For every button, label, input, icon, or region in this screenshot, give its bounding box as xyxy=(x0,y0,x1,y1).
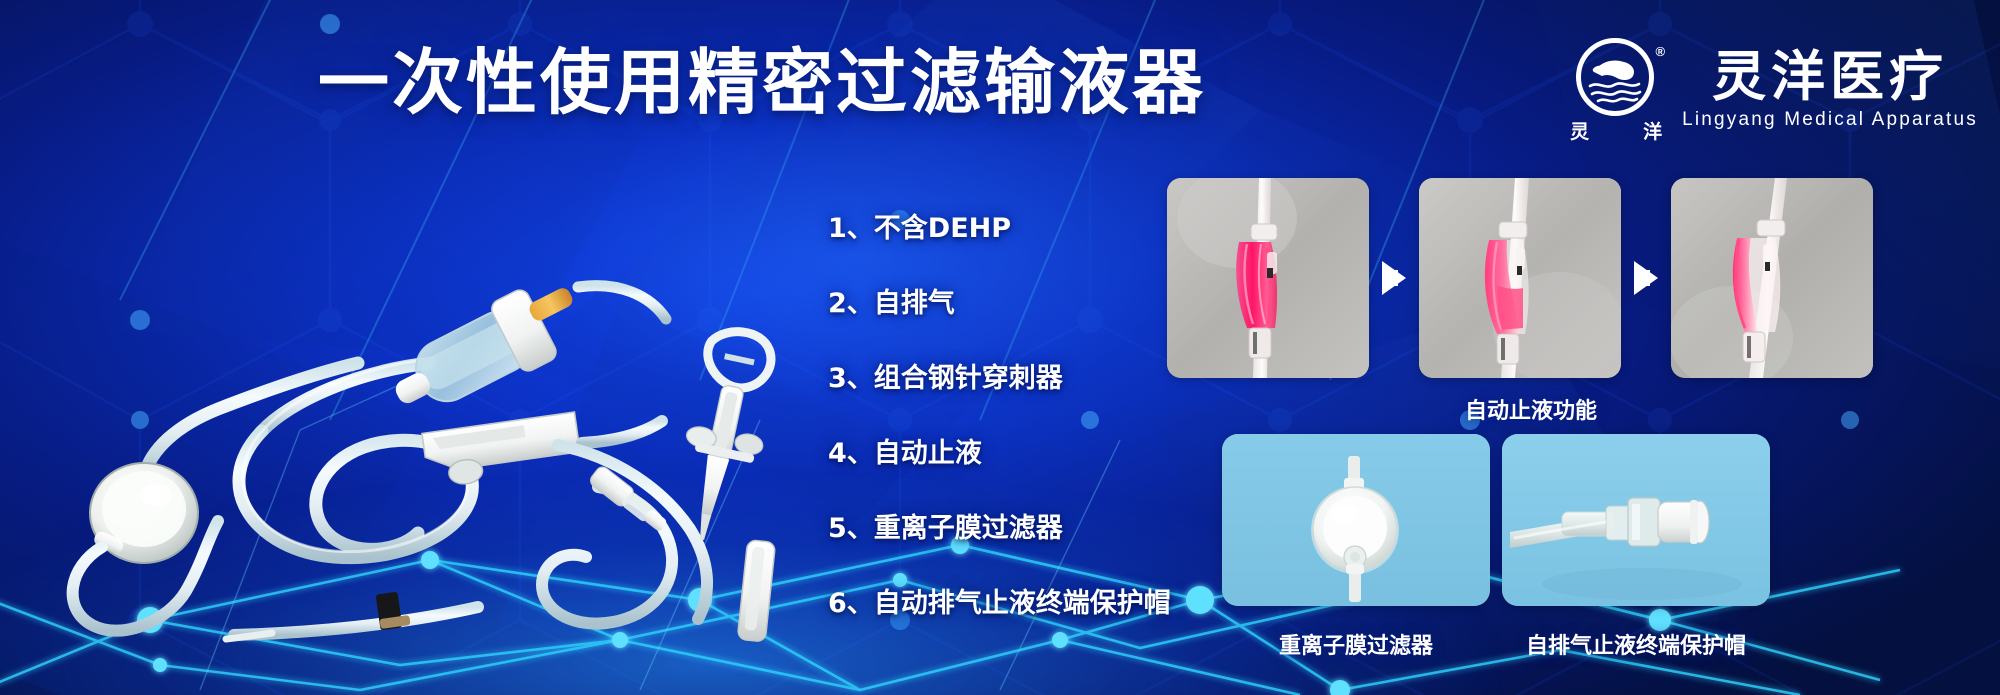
thumb-auto-stop-step-3[interactable] xyxy=(1671,178,1873,378)
feature-item-2: 2、自排气 xyxy=(828,290,1171,317)
caption-terminal-protector-cap: 自排气止液终端保护帽 xyxy=(1502,628,1770,660)
auto-stop-step-3-photo xyxy=(1671,178,1873,378)
thumb-terminal-protector-cap[interactable] xyxy=(1502,434,1770,606)
label-tag xyxy=(376,592,411,631)
thumb-auto-stop-step-2[interactable] xyxy=(1419,178,1621,378)
arrow-right-icon xyxy=(1382,261,1406,295)
brand-logo: ® 灵 洋 灵洋医疗 Lingyang Medical Apparatus xyxy=(1568,38,1978,142)
drip-chamber-part xyxy=(380,269,594,429)
infusion-set-illustration xyxy=(58,195,798,655)
logo-wave-bird-icon xyxy=(1576,38,1654,116)
page-title: 一次性使用精密过滤输液器 xyxy=(318,47,1206,118)
logo-mark-icon: ® 灵 洋 xyxy=(1568,38,1664,142)
auto-stop-sequence xyxy=(1167,178,1873,378)
component-gallery xyxy=(1222,434,1770,606)
brand-name-en: Lingyang Medical Apparatus xyxy=(1682,109,1978,131)
feature-item-3: 3、组合钢针穿刺器 xyxy=(828,365,1171,392)
arrow-right-icon xyxy=(1634,261,1658,295)
logo-mark-chars: 灵 洋 xyxy=(1570,123,1662,142)
protector-cap-part xyxy=(737,540,775,642)
caption-auto-stop-function: 自动止液功能 xyxy=(1465,393,1597,425)
feature-item-5: 5、重离子膜过滤器 xyxy=(828,515,1171,542)
brand-name-cn: 灵洋医疗 xyxy=(1712,49,1948,104)
feature-item-1: 1、不含DEHP xyxy=(828,215,1171,242)
caption-heavy-ion-filter: 重离子膜过滤器 xyxy=(1222,628,1490,660)
heavy-ion-filter-photo xyxy=(1222,434,1490,606)
product-photo-infusion-set xyxy=(58,195,798,655)
registered-mark: ® xyxy=(1655,44,1665,59)
terminal-protector-cap-photo xyxy=(1502,434,1770,606)
arrow-separator-1 xyxy=(1369,178,1419,378)
feature-item-4: 4、自动止液 xyxy=(828,440,1171,467)
auto-stop-step-2-photo xyxy=(1419,178,1621,378)
auto-stop-step-1-photo xyxy=(1167,178,1369,378)
arrow-separator-2 xyxy=(1621,178,1671,378)
logo-mark-char-right: 洋 xyxy=(1643,123,1662,142)
banner-root: 一次性使用精密过滤输液器 ® 灵 洋 灵洋医疗 xyxy=(0,0,2000,695)
component-captions: 重离子膜过滤器 自排气止液终端保护帽 xyxy=(1222,628,1782,660)
thumb-auto-stop-step-1[interactable] xyxy=(1167,178,1369,378)
feature-item-6: 6、自动排气止液终端保护帽 xyxy=(828,590,1171,617)
thumb-heavy-ion-filter[interactable] xyxy=(1222,434,1490,606)
feature-list: 1、不含DEHP 2、自排气 3、组合钢针穿刺器 4、自动止液 5、重离子膜过滤… xyxy=(828,215,1171,617)
brand-wordmark: 灵洋医疗 Lingyang Medical Apparatus xyxy=(1682,49,1978,130)
logo-mark-char-left: 灵 xyxy=(1570,123,1589,142)
